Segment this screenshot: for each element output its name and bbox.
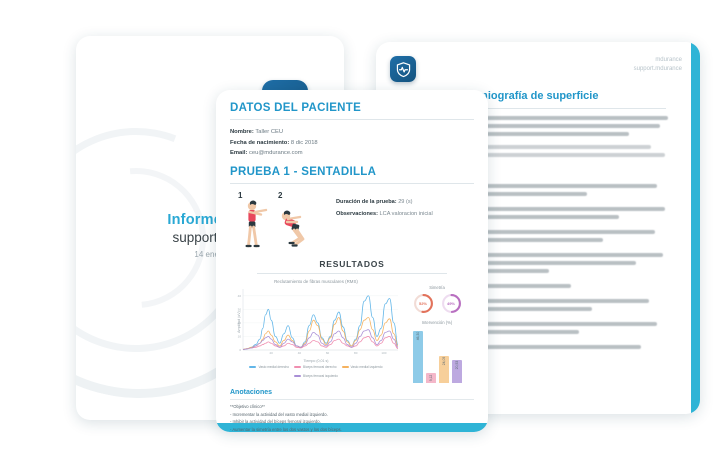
- results-charts: Reclutamiento de fibras musculares (RMS)…: [230, 279, 474, 383]
- field-label: Fecha de nacimiento:: [230, 140, 289, 146]
- field-label: Email:: [230, 150, 247, 156]
- symmetry-gauge-left: 52%: [413, 293, 434, 314]
- svg-text:20: 20: [270, 351, 274, 355]
- annotation-line: - Inhibir la actividad del bíceps femora…: [230, 419, 474, 426]
- test-section-title: PRUEBA 1 - SENTADILLA: [230, 166, 474, 178]
- intervention-bar: 9,12: [426, 373, 436, 383]
- squat-illustration-icon: [230, 191, 326, 251]
- field-label: Nombre:: [230, 129, 254, 135]
- gauge-value: 52%: [413, 293, 434, 314]
- brand-name: mdurance: [634, 56, 682, 65]
- legend-item: Vasto medial derecho: [249, 365, 289, 369]
- legend-swatch: [294, 375, 301, 377]
- annotation-line: - Incrementar la actividad del vasto med…: [230, 412, 474, 419]
- field-fecha-nacimiento: Fecha de nacimiento: 8 dic 2018: [230, 138, 474, 149]
- bar-value-label: 24,05: [442, 357, 446, 366]
- gauge-value: 49%: [441, 293, 462, 314]
- legend-label: Biceps femoral izquierdo: [303, 374, 338, 378]
- patient-fields: Nombre: Taller CEU Fecha de nacimiento: …: [230, 127, 474, 159]
- chart-plot-area: Amplitud (uV) 01020304020406080100: [230, 286, 402, 358]
- divider: [230, 119, 474, 120]
- intervention-bar: 46,30: [413, 331, 423, 383]
- meta-value: LCA valoracion inicial: [380, 211, 433, 217]
- chart-title: Reclutamiento de fibras musculares (RMS): [230, 279, 402, 284]
- divider: [257, 273, 447, 274]
- results-title: RESULTADOS: [230, 259, 474, 269]
- legend-item: Biceps femoral derecho: [294, 365, 337, 369]
- meta-value: 29 (s): [398, 199, 412, 205]
- meta-duracion: Duración de la prueba: 29 (s): [336, 197, 433, 209]
- report-content: DATOS DEL PACIENTE Nombre: Taller CEU Fe…: [230, 102, 474, 432]
- test-meta: Duración de la prueba: 29 (s) Observacio…: [336, 191, 433, 251]
- legend-label: Biceps femoral derecho: [303, 365, 337, 369]
- divider: [230, 399, 474, 400]
- field-value: ceu@mdurance.com: [249, 150, 303, 156]
- annotation-line: **Objetivo clínico**: [230, 404, 474, 411]
- legend-label: Vasto medial izquierdo: [351, 365, 383, 369]
- x-axis-label: Tiempo (0,01 s): [230, 359, 402, 363]
- legend-label: Vasto medial derecho: [258, 365, 289, 369]
- gauge-group: 52% 49%: [406, 293, 468, 314]
- svg-text:40: 40: [238, 294, 242, 298]
- legend-item: Vasto medial izquierdo: [342, 365, 383, 369]
- intervention-bar: 24,05: [439, 356, 449, 383]
- exercise-figures: 1 2: [230, 191, 326, 251]
- svg-text:20: 20: [238, 321, 242, 325]
- meta-label: Duración de la prueba:: [336, 199, 397, 205]
- brand-block: mdurance support.mdurance: [634, 56, 682, 73]
- bar-value-label: 20,53: [455, 361, 459, 370]
- test-row: 1 2: [230, 191, 474, 251]
- svg-text:30: 30: [238, 308, 242, 312]
- svg-text:0: 0: [239, 348, 241, 352]
- svg-text:10: 10: [238, 335, 242, 339]
- intervention-title: Intervención (%): [406, 320, 468, 325]
- intervention-bar: 20,53: [452, 360, 462, 383]
- report-card[interactable]: DATOS DEL PACIENTE Nombre: Taller CEU Fe…: [216, 90, 488, 432]
- svg-text:80: 80: [354, 351, 358, 355]
- chart-legend: Vasto medial derechoBiceps femoral derec…: [230, 365, 402, 378]
- field-email: Email: ceu@mdurance.com: [230, 148, 474, 159]
- bar-value-label: 46,30: [416, 332, 420, 341]
- figure-number-1: 1: [238, 191, 242, 200]
- mdurance-logo-icon-small: [390, 56, 416, 82]
- symmetry-title: Simetría: [406, 285, 468, 290]
- meta-observaciones: Observaciones: LCA valoracion inicial: [336, 209, 433, 221]
- accent-bar: [691, 42, 700, 414]
- legend-swatch: [294, 366, 301, 368]
- field-value: 8 dic 2018: [291, 140, 318, 146]
- patient-section-title: DATOS DEL PACIENTE: [230, 102, 474, 114]
- meta-label: Observaciones:: [336, 211, 378, 217]
- brand-support: support.mdurance: [634, 65, 682, 74]
- legend-swatch: [342, 366, 349, 368]
- emg-line-chart: Reclutamiento de fibras musculares (RMS)…: [230, 279, 402, 383]
- screenshot-root: Informe Ses support mdu 14 ene 2 mduranc…: [0, 0, 720, 456]
- symmetry-panel: Simetría 52%: [406, 279, 468, 383]
- divider: [230, 183, 474, 184]
- svg-text:40: 40: [298, 351, 302, 355]
- bar-value-label: 9,12: [429, 375, 433, 382]
- field-value: Taller CEU: [255, 129, 283, 135]
- annotations-section: Anotaciones **Objetivo clínico** - Incre…: [230, 389, 474, 432]
- legend-item: Biceps femoral izquierdo: [294, 374, 338, 378]
- figure-number-2: 2: [278, 191, 282, 200]
- svg-text:60: 60: [326, 351, 330, 355]
- symmetry-gauge-right: 49%: [441, 293, 462, 314]
- annotation-line: - Aumentar la simetría entre los dos vas…: [230, 427, 474, 432]
- svg-text:100: 100: [381, 351, 386, 355]
- annotations-title: Anotaciones: [230, 389, 474, 396]
- legend-swatch: [249, 366, 256, 368]
- field-nombre: Nombre: Taller CEU: [230, 127, 474, 138]
- intervention-bar-chart: 46,309,1224,0520,53: [406, 327, 468, 383]
